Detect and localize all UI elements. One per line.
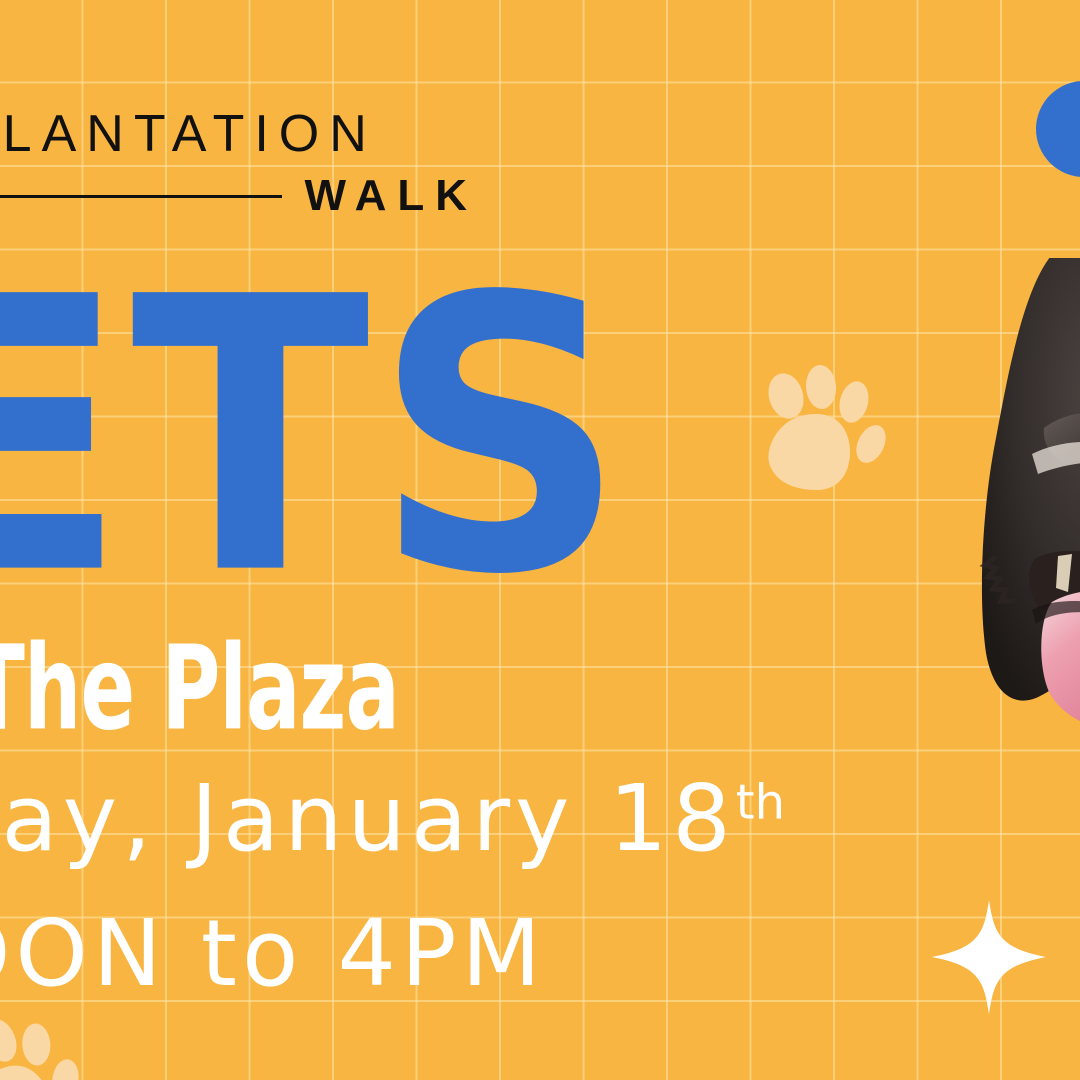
time-text: OON to 4PM — [0, 908, 546, 1000]
paw-print-icon — [755, 362, 895, 502]
date-ordinal-suffix: th — [736, 774, 785, 830]
sparkle-icon — [930, 898, 1048, 1016]
brand-logo: PLANTATION WALK — [0, 108, 518, 218]
logo-second-row: WALK — [0, 174, 478, 218]
logo-walk-text: WALK — [304, 174, 478, 218]
venue-text: The Plaza — [0, 630, 399, 746]
logo-rule — [0, 195, 282, 198]
blue-circle-decor — [1036, 81, 1080, 177]
logo-plantation-text: PLANTATION — [0, 108, 518, 160]
dog-photo — [940, 258, 1080, 750]
page-title: ETS — [0, 248, 630, 626]
date-main: day, January 18 — [0, 765, 736, 872]
date-text: day, January 18th — [0, 773, 785, 865]
event-poster: PLANTATION WALK ETS — [0, 0, 1080, 1080]
